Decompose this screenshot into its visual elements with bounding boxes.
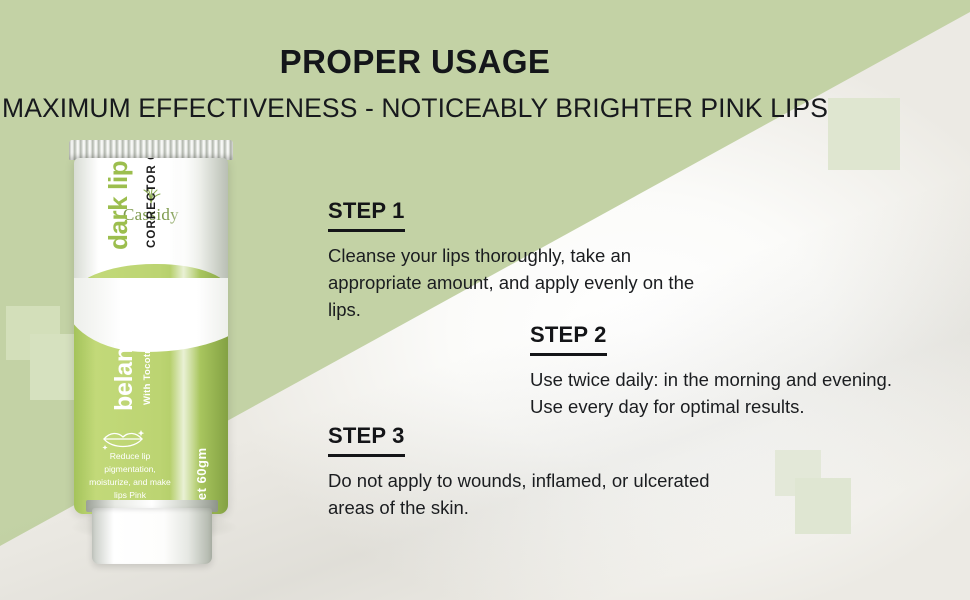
step-3-label: STEP 3 (328, 423, 405, 457)
step-1-text: Cleanse your lips thoroughly, take an ap… (328, 243, 728, 323)
step-2-block: STEP 2 Use twice daily: in the morning a… (530, 322, 910, 421)
step-2-text: Use twice daily: in the morning and even… (530, 367, 910, 421)
product-type-name: CORRECTOR CREAM (146, 158, 158, 248)
tube-crimp-seal (69, 140, 233, 160)
benefit-claim-text: Reduce lip pigmentation, moisturize, and… (88, 450, 172, 502)
step-1-block: STEP 1 Cleanse your lips thoroughly, tak… (328, 198, 728, 323)
plus-icon (828, 98, 900, 170)
plus-icon (795, 478, 851, 534)
page-subtitle: MAXIMUM EFFECTIVENESS - NOTICEABLY BRIGH… (0, 91, 830, 126)
product-tube-image: Cassidy dark lip CORRECTOR CREAM belani … (64, 140, 240, 540)
product-line-name: dark lip (103, 161, 134, 250)
step-2-label: STEP 2 (530, 322, 607, 356)
lips-icon (100, 428, 148, 452)
step-3-block: STEP 3 Do not apply to wounds, inflamed,… (328, 423, 728, 522)
usage-infographic: PROPER USAGE MAXIMUM EFFECTIVENESS - NOT… (0, 0, 970, 600)
heading-block: PROPER USAGE MAXIMUM EFFECTIVENESS - NOT… (0, 44, 830, 127)
tube-cap (92, 508, 212, 564)
step-1-label: STEP 1 (328, 198, 405, 232)
page-title: PROPER USAGE (0, 44, 830, 80)
ingredient-claim: With Tocotrienols (142, 320, 153, 405)
sub-brand-name: belani (110, 341, 139, 411)
tube-body: Cassidy dark lip CORRECTOR CREAM belani … (74, 158, 228, 514)
tube-highlight (170, 158, 200, 514)
step-3-text: Do not apply to wounds, inflamed, or ulc… (328, 468, 728, 522)
